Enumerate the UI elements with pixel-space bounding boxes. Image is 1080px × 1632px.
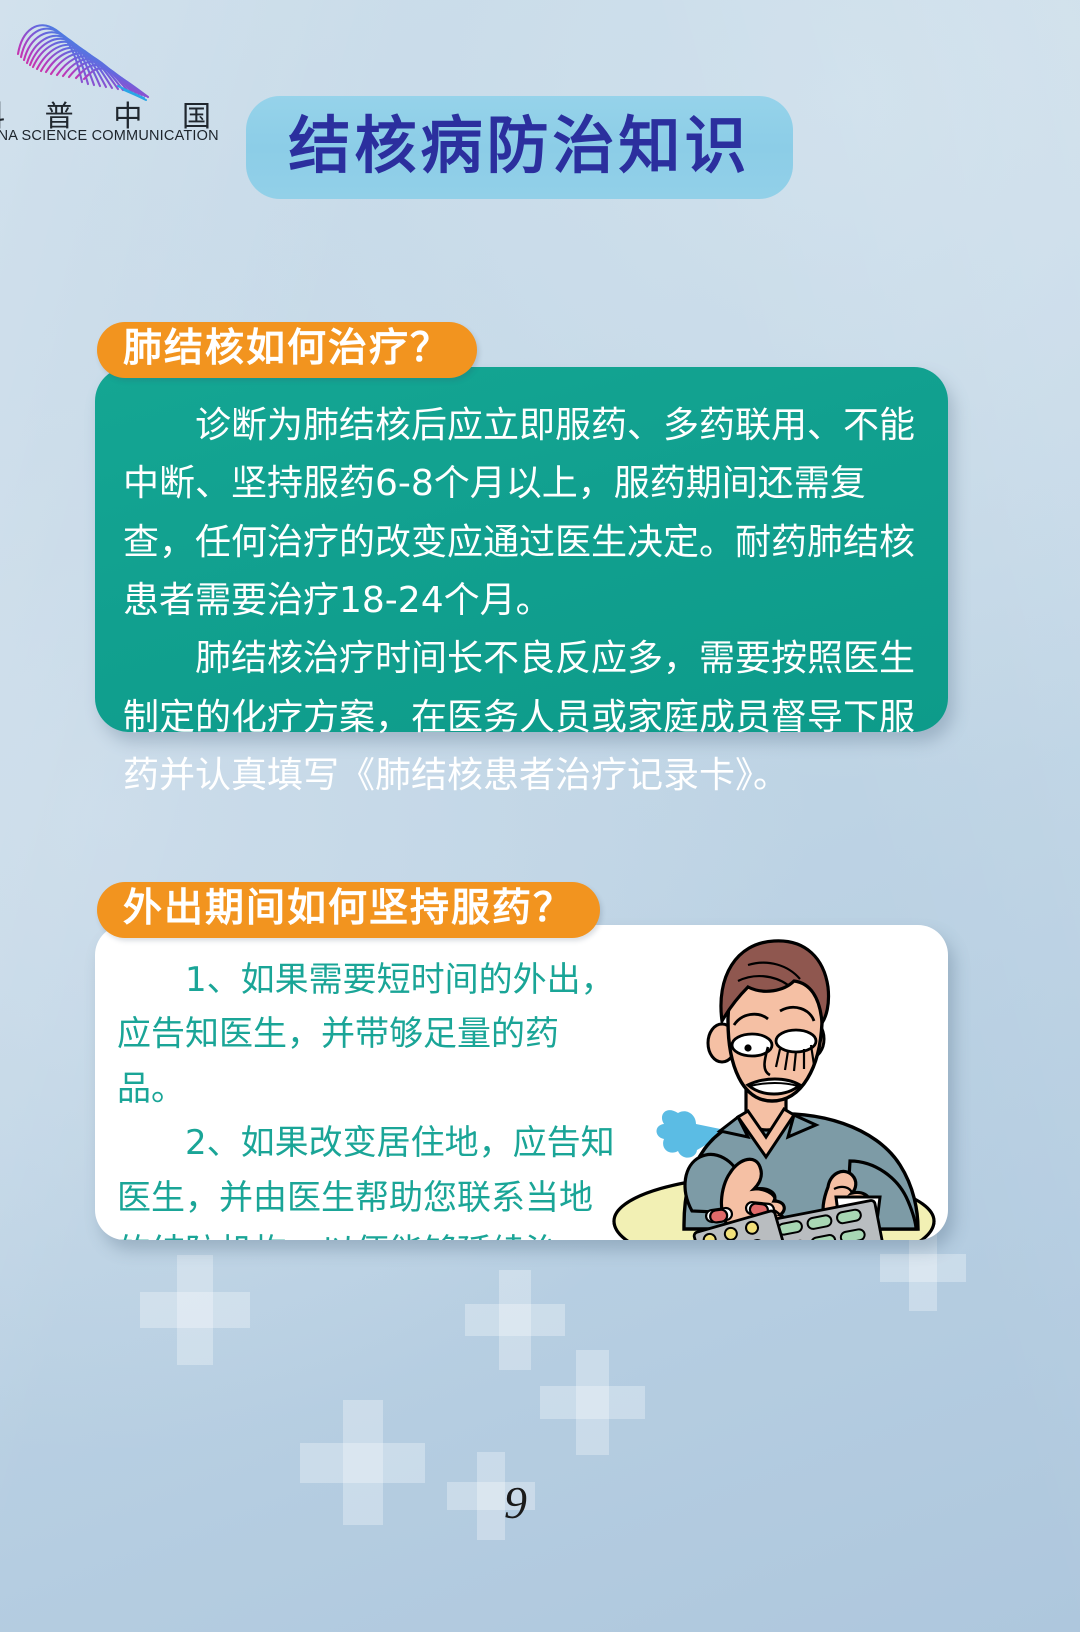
page-root: 科 普 中 国 CHINA SCIENCE COMMUNICATION 结核病防… (0, 0, 1080, 1632)
logo: 科 普 中 国 CHINA SCIENCE COMMUNICATION (0, 2, 224, 150)
page-title-banner: 结核病防治知识 (246, 96, 793, 199)
section-badge-treatment: 肺结核如何治疗？ (97, 322, 477, 378)
section-panel-travel: 1、如果需要短时间的外出，应告知医生，并带够足量的药品。 2、如果改变居住地，应… (95, 925, 948, 1240)
section-panel-treatment: 诊断为肺结核后应立即服药、多药联用、不能中断、坚持服药6-8个月以上，服药期间还… (95, 367, 948, 732)
treatment-text-body: 诊断为肺结核后应立即服药、多药联用、不能中断、坚持服药6-8个月以上，服药期间还… (123, 397, 918, 805)
logo-english-text: CHINA SCIENCE COMMUNICATION (0, 128, 216, 144)
travel-paragraph-1: 1、如果需要短时间的外出，应告知医生，并带够足量的药品。 (117, 953, 617, 1116)
travel-paragraph-2: 2、如果改变居住地，应告知医生，并由医生帮助您联系当地的结防机构，以便能够延续治… (117, 1116, 617, 1240)
logo-chinese-text: 科 普 中 国 (0, 97, 216, 131)
travel-text-body: 1、如果需要短时间的外出，应告知医生，并带够足量的药品。 2、如果改变居住地，应… (117, 953, 617, 1240)
background-cross-icon (300, 1400, 425, 1525)
logo-wing-icon (2, 4, 162, 104)
illustration-man-taking-medication (588, 925, 948, 1240)
background-cross-icon (140, 1255, 250, 1365)
section-badge-label: 肺结核如何治疗？ (123, 329, 451, 371)
treatment-paragraph-2: 肺结核治疗时间长不良反应多，需要按照医生制定的化疗方案，在医务人员或家庭成员督导… (123, 630, 918, 805)
section-badge-label: 外出期间如何坚持服药？ (123, 889, 574, 931)
section-badge-travel: 外出期间如何坚持服药？ (97, 882, 600, 938)
treatment-paragraph-1: 诊断为肺结核后应立即服药、多药联用、不能中断、坚持服药6-8个月以上，服药期间还… (123, 397, 918, 630)
background-sheen (0, 0, 1080, 1632)
background-cross-icon (465, 1270, 565, 1370)
page-title: 结核病防治知识 (288, 115, 750, 181)
background-cross-icon (540, 1350, 645, 1455)
page-number: 9 (504, 1476, 527, 1529)
